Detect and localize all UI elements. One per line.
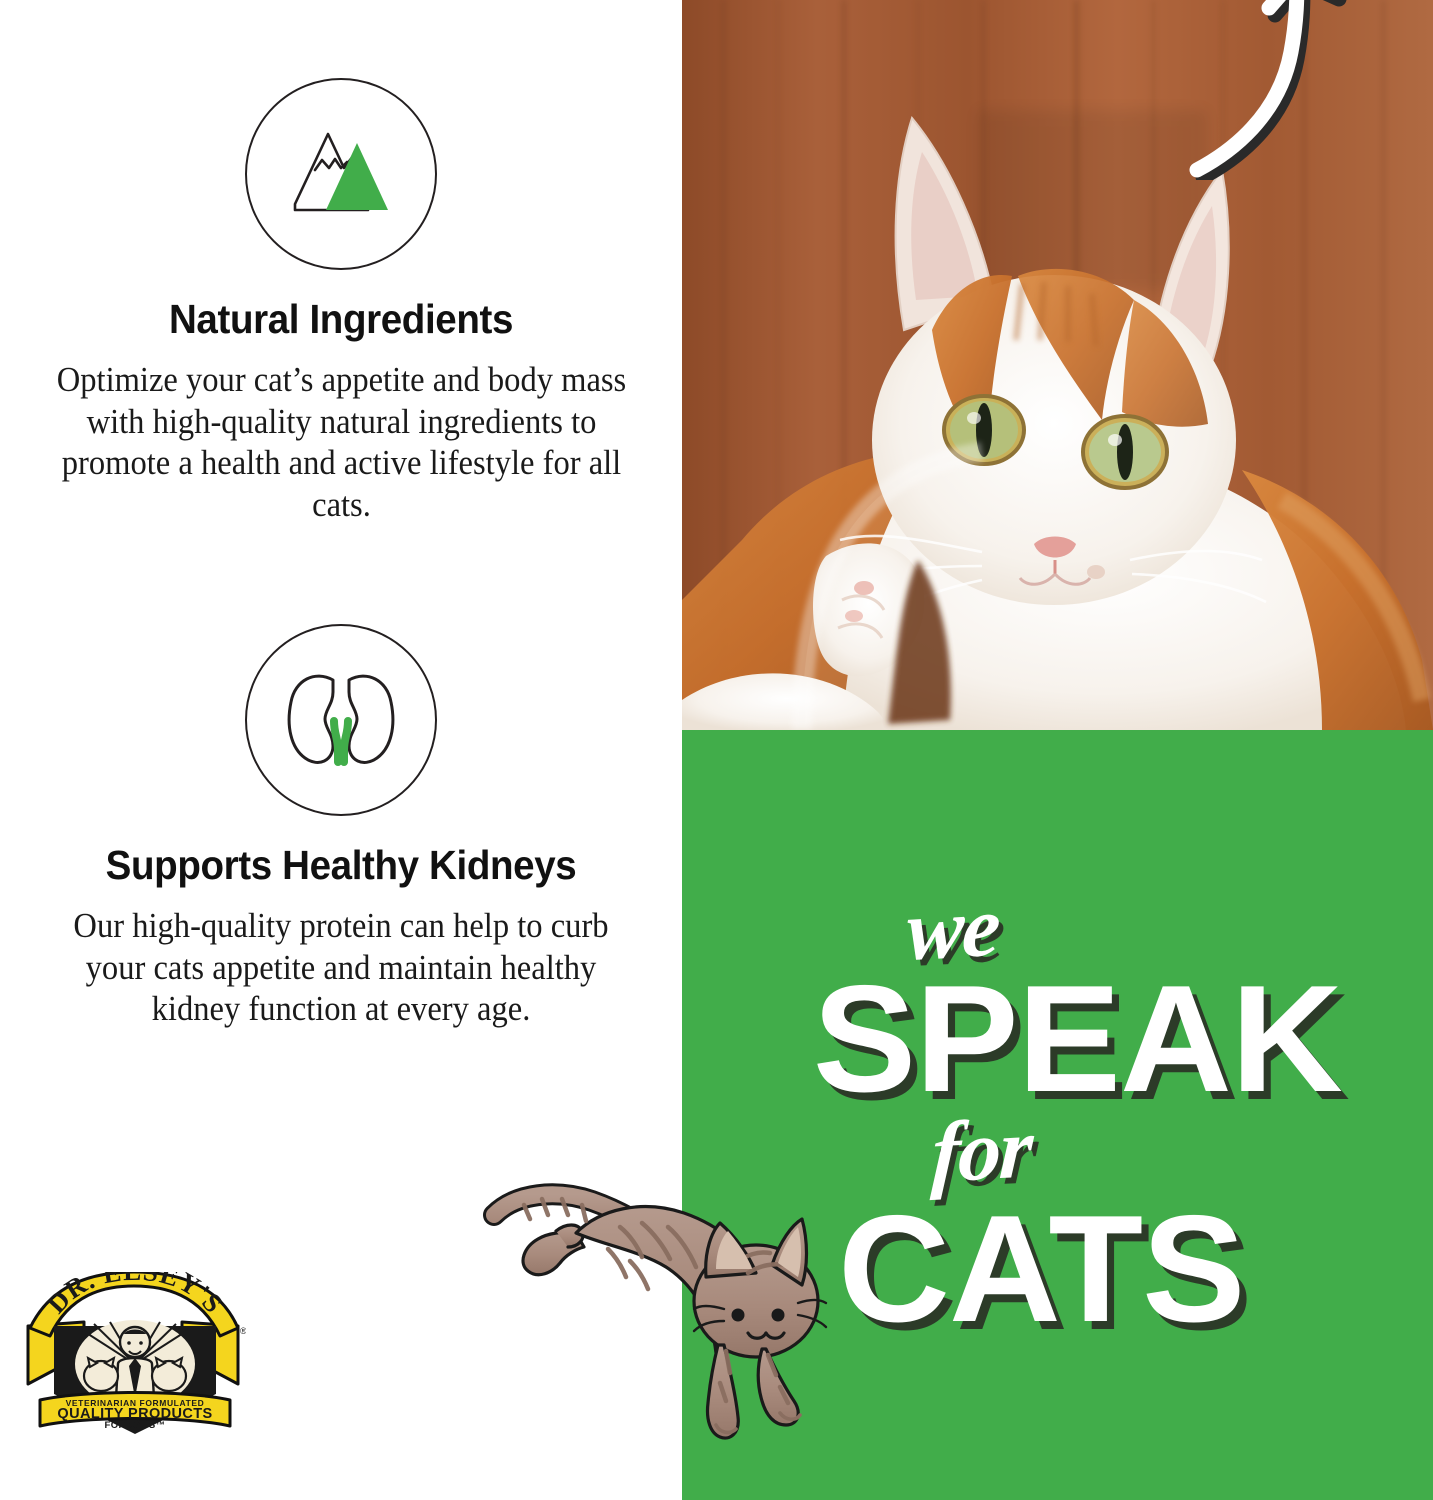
headline-word-speak: SPEAK: [813, 952, 1342, 1127]
feature-natural-ingredients: Natural Ingredients Optimize your cat’s …: [0, 78, 682, 526]
product-feature-panel: Natural Ingredients Optimize your cat’s …: [0, 0, 1433, 1500]
mountains-icon: [245, 78, 437, 270]
feature-title: Supports Healthy Kidneys: [20, 842, 661, 889]
headline-word-cats: CATS: [838, 1182, 1244, 1357]
logo-ribbon-line-3: FOR CATS™: [105, 1420, 166, 1431]
curved-arrow-icon: [1187, 0, 1387, 180]
feature-body: Optimize your cat’s appetite and body ma…: [41, 359, 641, 526]
feature-body: Our high-quality protein can help to cur…: [71, 905, 610, 1030]
registered-mark-icon: ®: [240, 1326, 246, 1336]
leaping-tabby-cat-illustration: [480, 1175, 835, 1455]
kidneys-icon: [245, 624, 437, 816]
feature-title: Natural Ingredients: [20, 296, 661, 343]
dr-elseys-logo: DR. ELSEY'S VETERINARIAN FORMULATED QUAL…: [24, 1272, 246, 1444]
feature-supports-healthy-kidneys: Supports Healthy Kidneys Our high-qualit…: [0, 624, 682, 1030]
